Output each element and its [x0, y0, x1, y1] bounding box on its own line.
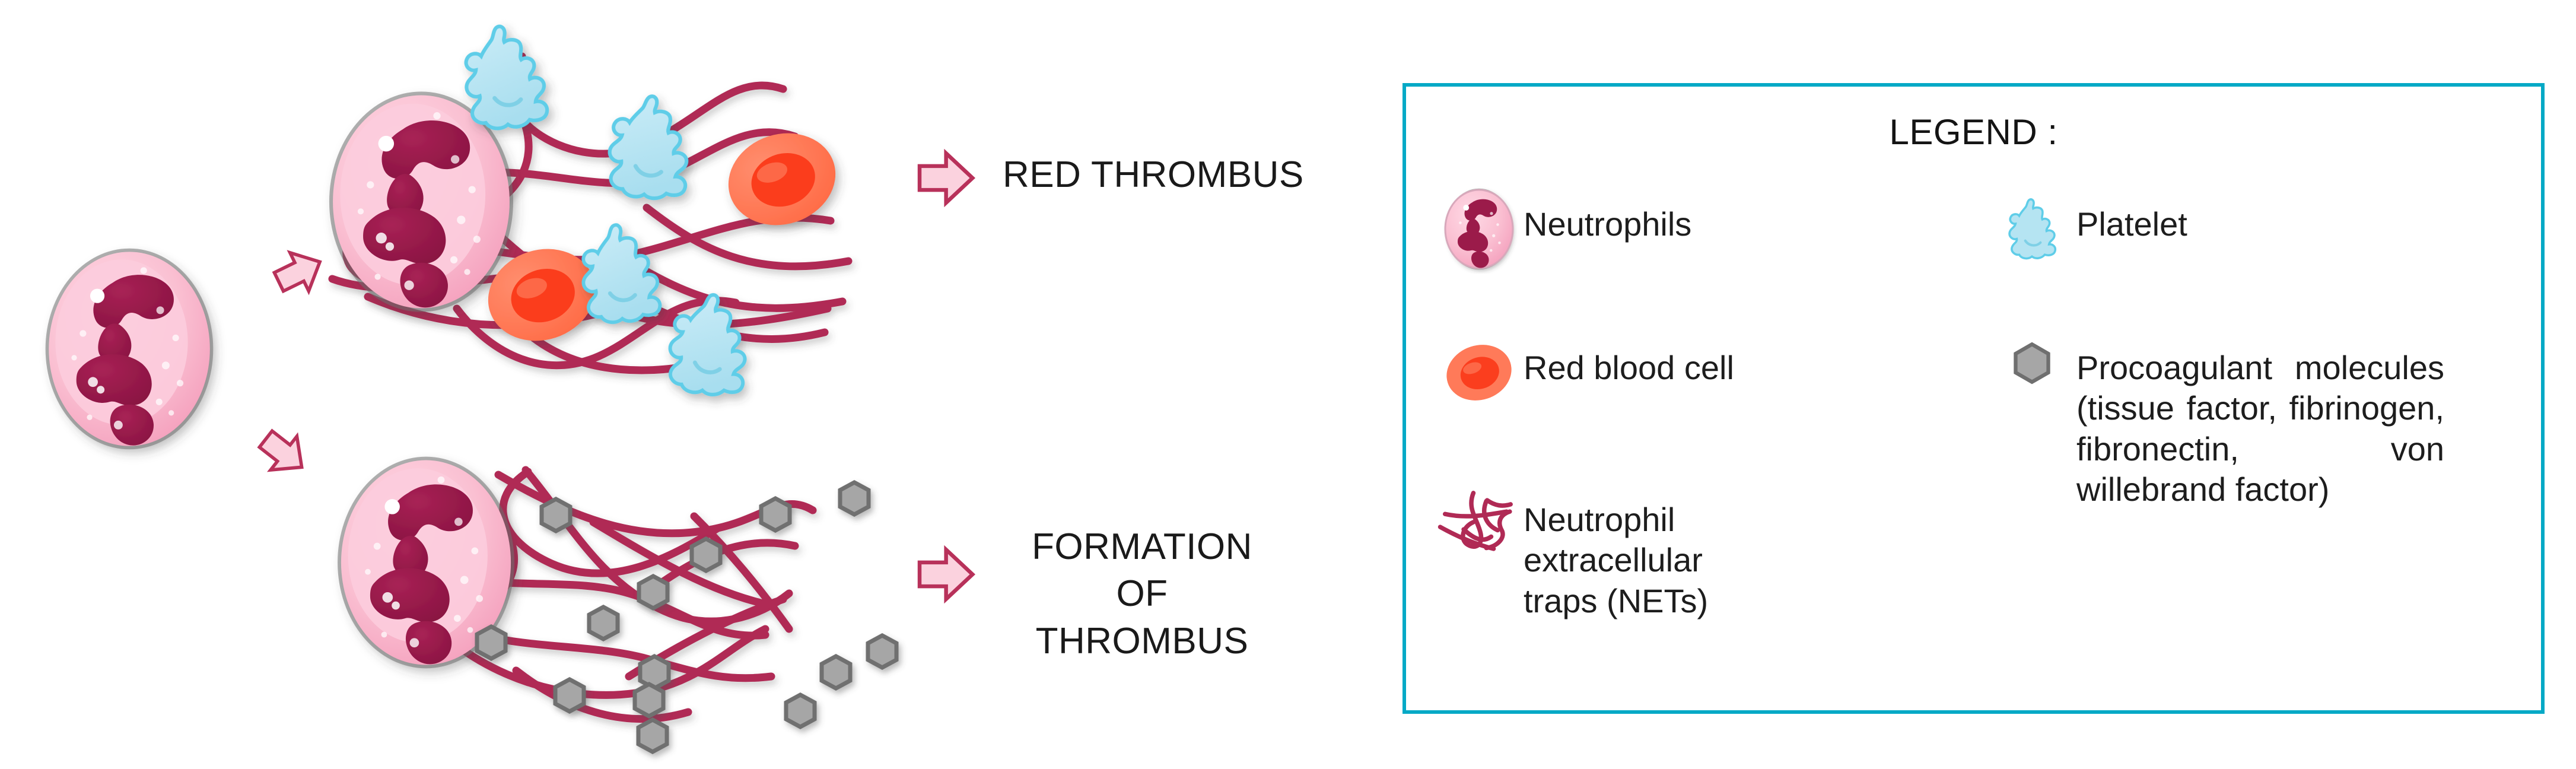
procoagulant-molecule: [840, 482, 869, 514]
procoagulant-molecule: [822, 656, 850, 688]
red-thrombus-cluster: [329, 24, 848, 399]
platelet-icon: [1987, 191, 2076, 267]
arrow-red-thrombus: [920, 153, 972, 203]
hexagon-icon: [1987, 335, 2076, 392]
procoagulant-molecule: [542, 499, 570, 531]
branch-arrow-down: [253, 422, 315, 484]
figure-canvas: RED THROMBUS FORMATION OF THROMBUS LEGEN…: [0, 0, 2576, 769]
legend-item-platelet: Platelet: [1987, 191, 2521, 307]
procoagulant-molecule: [638, 720, 667, 752]
procoagulant-molecule: [640, 656, 669, 688]
procoagulant-molecule: [868, 635, 896, 668]
legend-label-nets: Neutrophil extracellular traps (NETs): [1524, 487, 1708, 621]
legend-item-nets: Neutrophil extracellular traps (NETs): [1435, 487, 1921, 629]
procoagulant-molecule: [692, 539, 720, 571]
legend-label-procoagulant: Procoagulant molecules (tissue factor, f…: [2076, 335, 2444, 510]
procoagulant-molecule: [635, 684, 663, 716]
legend-item-neutrophils: Neutrophils: [1435, 191, 1921, 307]
procoagulant-molecule: [639, 576, 667, 608]
thrombus-formation-cluster: [338, 457, 896, 752]
red-blood-cell-icon: [1435, 335, 1524, 411]
legend-label-red-blood-cell: Red blood cell: [1524, 335, 1734, 388]
formation-of-thrombus-label: FORMATION OF THROMBUS: [1003, 523, 1281, 665]
legend-label-platelet: Platelet: [2076, 191, 2187, 244]
legend-item-procoagulant: Procoagulant molecules (tissue factor, f…: [1987, 335, 2521, 510]
legend-title: LEGEND :: [1406, 112, 2541, 152]
red-thrombus-label: RED THROMBUS: [1003, 151, 1304, 198]
procoagulant-molecule: [761, 498, 790, 530]
nets-icon: [1435, 487, 1524, 563]
legend-label-neutrophils: Neutrophils: [1524, 191, 1691, 244]
procoagulant-molecule: [589, 607, 618, 639]
neutrophil-icon: [1435, 191, 1524, 267]
legend-right-column: Platelet Procoagulant molecules (tissue …: [1987, 191, 2521, 537]
platelet: [605, 93, 694, 202]
procoagulant-molecule: [555, 679, 584, 711]
procoagulant-molecule: [477, 627, 505, 659]
procoagulant-molecule: [786, 695, 815, 727]
source-neutrophil: [46, 249, 214, 450]
platelet: [462, 24, 548, 131]
platelet: [580, 223, 660, 324]
legend-panel: LEGEND :: [1403, 83, 2545, 714]
branch-arrow-up: [269, 243, 329, 301]
arrow-formation-thrombus: [920, 549, 972, 599]
legend-left-column: Neutrophils Red blood cell: [1435, 191, 1921, 656]
legend-item-red-blood-cell: Red blood cell: [1435, 335, 1921, 459]
